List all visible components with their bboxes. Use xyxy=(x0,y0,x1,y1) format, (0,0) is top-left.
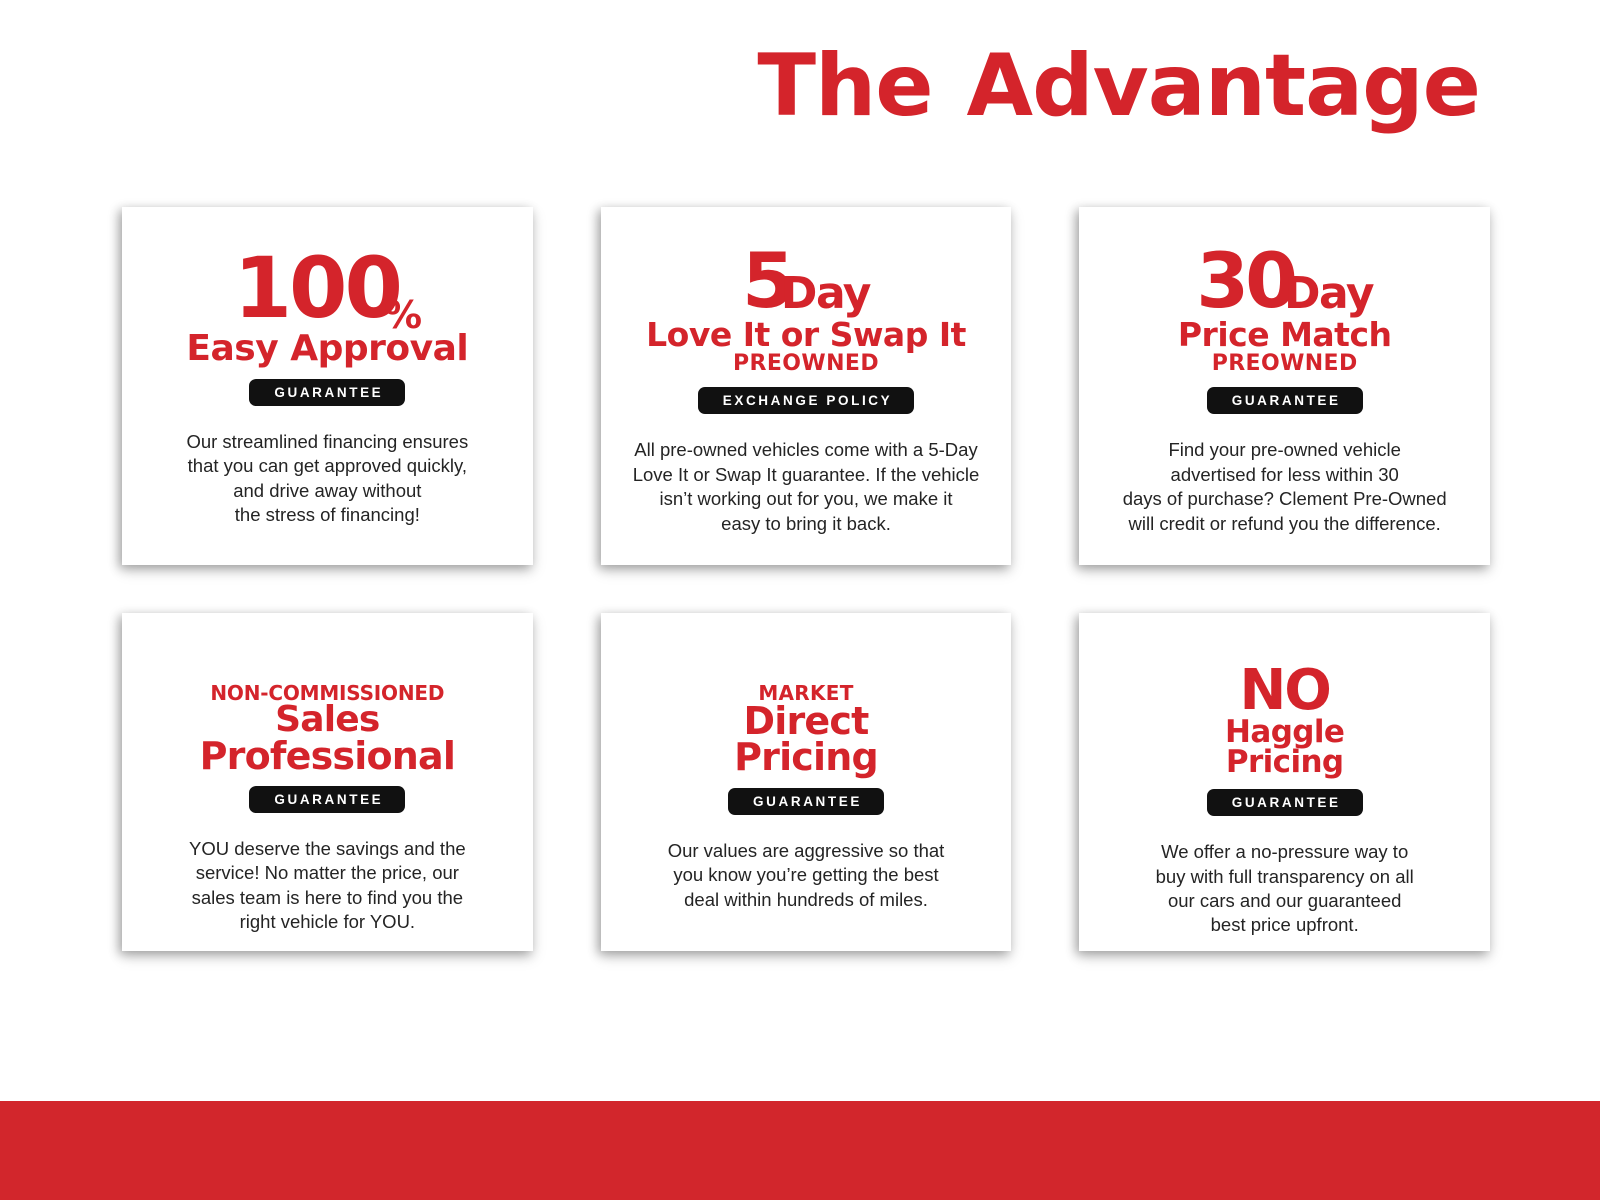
card-body-text: YOU deserve the savings and the service!… xyxy=(189,837,466,935)
headline-100-percent: 100% xyxy=(234,249,421,329)
badge-guarantee: GUARANTEE xyxy=(249,786,405,813)
headline-line-sales: Sales xyxy=(275,703,379,738)
card-body-text: Our values are aggressive so that you kn… xyxy=(668,839,945,912)
card-love-it-or-swap-it[interactable]: 5Day Love It or Swap It PREOWNED EXCHANG… xyxy=(601,207,1012,565)
card-body-text: Our streamlined financing ensures that y… xyxy=(186,430,468,528)
headline-no-haggle-pricing: NO Haggle Pricing xyxy=(1225,637,1344,777)
headline-line-haggle: Haggle xyxy=(1225,717,1344,747)
headline-number: 100 xyxy=(234,249,400,329)
percent-symbol: % xyxy=(384,297,421,333)
badge-guarantee: GUARANTEE xyxy=(1207,387,1363,414)
card-row-top: 100% Easy Approval GUARANTEE Our streaml… xyxy=(122,207,1490,565)
card-body-text: Find your pre-owned vehicle advertised f… xyxy=(1123,438,1447,536)
card-no-haggle-pricing[interactable]: NO Haggle Pricing GUARANTEE We offer a n… xyxy=(1079,613,1490,951)
brand-logo-gap xyxy=(933,43,967,129)
advantage-card-grid: 100% Easy Approval GUARANTEE Our streaml… xyxy=(122,207,1490,999)
headline-day-word: Day xyxy=(781,274,870,314)
advantage-page: The Advantage 100% Easy Approval GUARANT… xyxy=(0,0,1600,1200)
card-market-direct-pricing[interactable]: MARKET Direct Pricing GUARANTEE Our valu… xyxy=(601,613,1012,951)
headline-line-pricing: Pricing xyxy=(734,739,878,775)
headline-line-preowned: PREOWNED xyxy=(733,353,879,375)
headline-love-it-or-swap-it: 5Day Love It or Swap It PREOWNED xyxy=(646,231,966,375)
headline-5-day: 5Day xyxy=(742,247,870,315)
headline-number: 30 xyxy=(1196,247,1294,315)
headline-price-match: 30Day Price Match PREOWNED xyxy=(1178,231,1392,375)
headline-line-professional: Professional xyxy=(200,738,456,774)
page-title: The Advantage xyxy=(0,26,1600,146)
headline-market-direct-pricing: MARKET Direct Pricing xyxy=(734,637,878,776)
headline-day-word: Day xyxy=(1284,274,1373,314)
headline-30-day: 30Day xyxy=(1196,247,1373,315)
badge-exchange-policy: EXCHANGE POLICY xyxy=(698,387,915,414)
page-title-advantage: Advantage xyxy=(967,36,1480,136)
headline-line-direct: Direct xyxy=(744,703,869,739)
card-easy-approval[interactable]: 100% Easy Approval GUARANTEE Our streaml… xyxy=(122,207,533,565)
badge-guarantee: GUARANTEE xyxy=(728,788,884,815)
badge-guarantee: GUARANTEE xyxy=(249,379,405,406)
card-body-text: We offer a no-pressure way to buy with f… xyxy=(1156,840,1414,938)
headline-line-price-match: Price Match xyxy=(1178,318,1392,351)
headline-non-commissioned-sales: NON-COMMISSIONED Sales Professional xyxy=(200,637,456,774)
card-body-text: All pre-owned vehicles come with a 5-Day… xyxy=(633,438,980,536)
headline-line-pricing: Pricing xyxy=(1226,747,1344,777)
page-title-text: The Advantage xyxy=(757,43,1480,129)
headline-line-preowned: PREOWNED xyxy=(1212,353,1358,375)
badge-guarantee: GUARANTEE xyxy=(1207,789,1363,816)
headline-line-swap: Love It or Swap It xyxy=(646,318,966,351)
footer-accent-bar xyxy=(0,1101,1600,1200)
card-non-commissioned-sales[interactable]: NON-COMMISSIONED Sales Professional GUAR… xyxy=(122,613,533,951)
card-price-match[interactable]: 30Day Price Match PREOWNED GUARANTEE Fin… xyxy=(1079,207,1490,565)
card-row-bottom: NON-COMMISSIONED Sales Professional GUAR… xyxy=(122,613,1490,951)
headline-line-easy-approval: Easy Approval xyxy=(186,331,468,367)
page-title-the: The xyxy=(757,36,932,136)
headline-easy-approval: 100% Easy Approval xyxy=(186,231,468,367)
headline-no: NO xyxy=(1239,665,1329,717)
